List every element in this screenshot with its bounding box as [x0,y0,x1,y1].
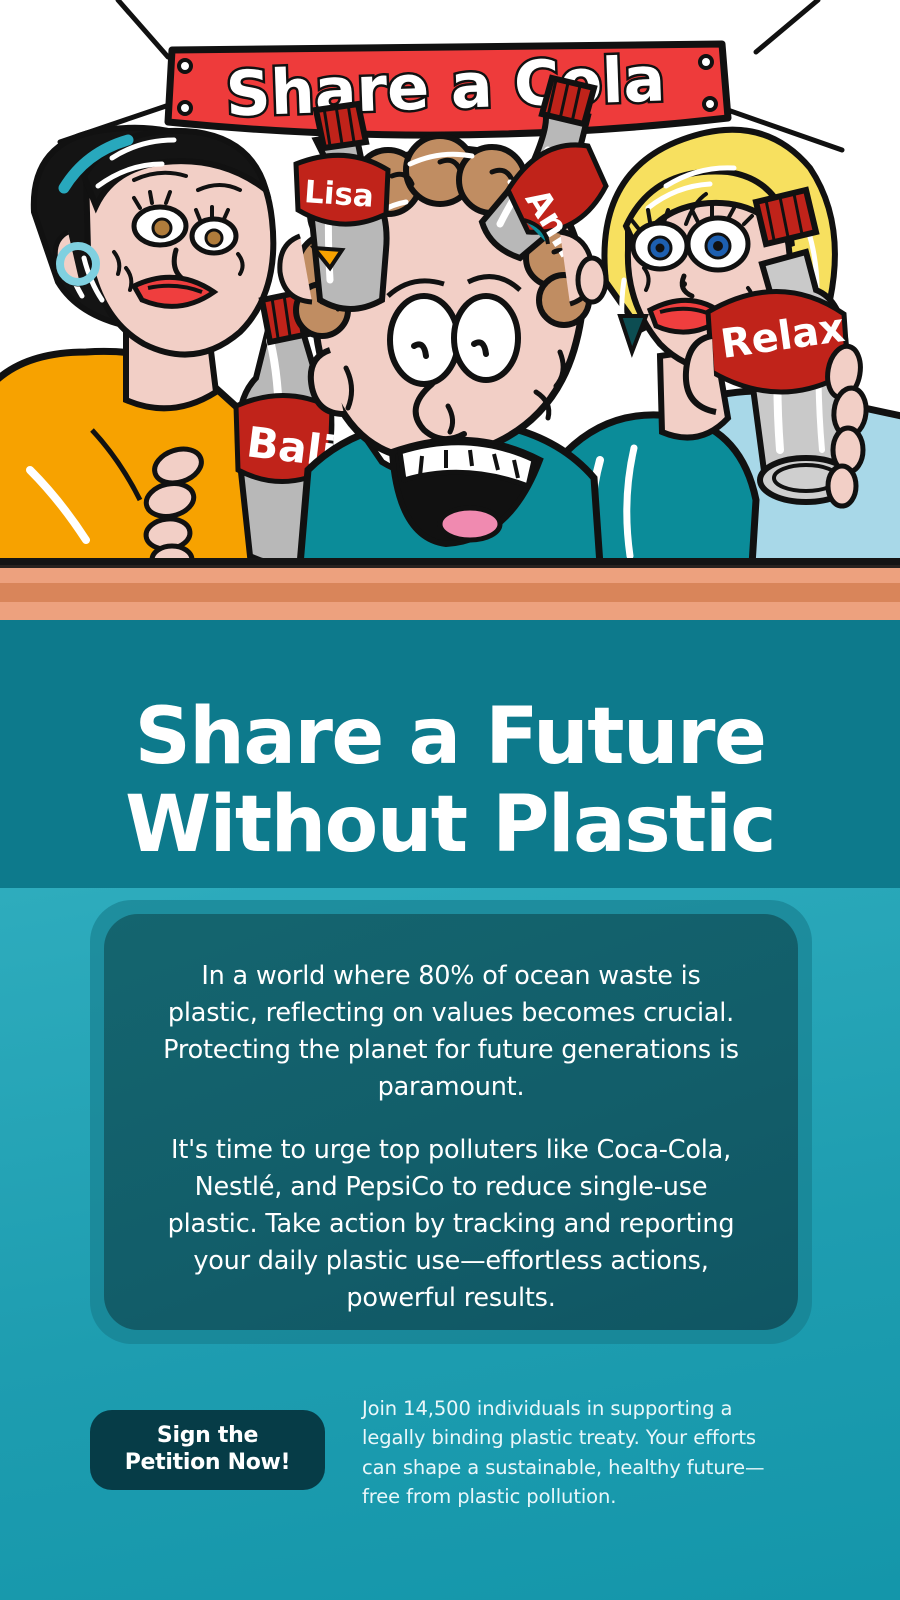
poster-root: Share a Cola [0,0,900,1600]
page-title-line-1: Share a Future [0,694,900,781]
hero-illustration: Share a Cola [0,0,900,565]
page-title-line-2: Without Plastic [0,782,900,869]
wood-top-line [0,565,900,568]
banner-share-a-cola: Share a Cola [168,42,728,135]
headline-band: Share a Future Without Plastic [0,620,900,888]
page-title: Share a Future Without Plastic [0,694,900,869]
cta-row: Sign the Petition Now! Join 14,500 indiv… [0,1380,900,1580]
body-paragraph-1: In a world where 80% of ocean waste is p… [156,958,746,1106]
character-center: Lisa [280,78,606,565]
hero-cartoon-svg: Share a Cola [0,0,900,565]
wood-dark-band [0,583,900,602]
bottle-label-lisa: Lisa [303,174,375,215]
body-paragraph-2: It's time to urge top polluters like Coc… [156,1132,746,1317]
cta-supporting-note: Join 14,500 individuals in supporting a … [362,1394,796,1511]
sign-petition-button[interactable]: Sign the Petition Now! [90,1410,325,1490]
banner-label: Share a Cola [225,42,667,130]
wood-divider [0,565,900,620]
body-card: In a world where 80% of ocean waste is p… [104,914,798,1330]
